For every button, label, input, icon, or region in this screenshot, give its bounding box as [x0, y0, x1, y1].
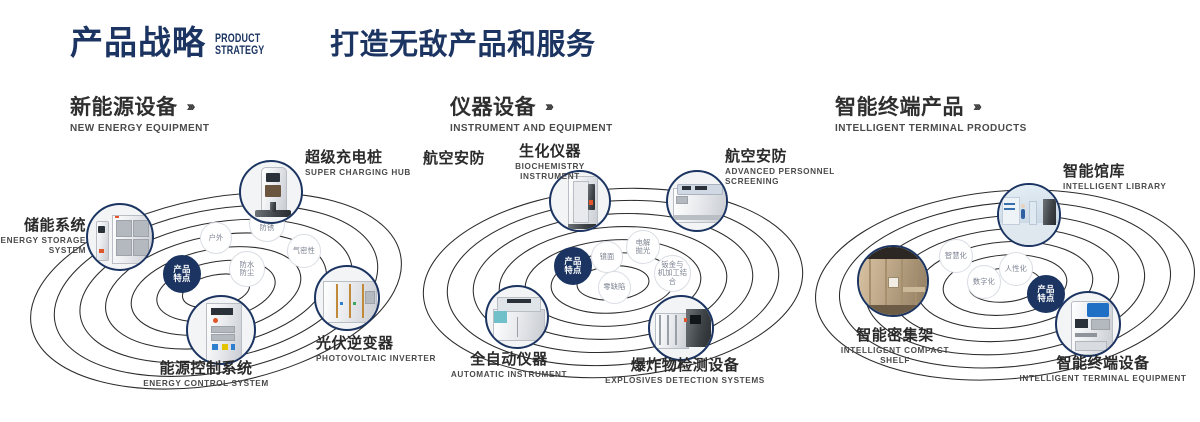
photovoltaic-inverter-photo	[316, 267, 378, 329]
caption-en-intelligent-terminal: INTELLIGENT TERMINAL EQUIPMENT	[1003, 374, 1200, 383]
caption-explosives-detection: 爆炸物检测设备 EXPLOSIVES DETECTION SYSTEMS	[590, 357, 780, 386]
feature-bubble-intelligence: 智慧化	[939, 239, 973, 273]
section-title-cn-instrument: 仪器设备 ›››	[450, 96, 613, 119]
caption-cn-explosives-detection: 爆炸物检测设备	[590, 357, 780, 374]
caption-en-super-charging-hub: SUPER CHARGING HUB	[305, 168, 425, 177]
feature-bubble-zero-defect: 零缺陷	[598, 271, 631, 304]
feature-bubble-sheetmetal-machining: 钣金与 机加工结合	[654, 255, 691, 292]
product-node-energy-control-system[interactable]	[186, 295, 256, 365]
caption-cn-intelligent-compact-shelf: 智能密集架	[795, 327, 995, 344]
poster-title-en: PRODUCT STRATEGY	[215, 34, 264, 57]
caption-aviation-security-left: 航空安防	[375, 150, 485, 167]
cluster-instrument: 产品 特点 镜面 电解 抛光 钣金与 机加工结合 零缺陷 生化仪器 BIOCHE…	[415, 155, 815, 417]
product-node-super-charging-hub[interactable]	[239, 160, 303, 224]
feature-bubble-outdoor: 户外	[200, 222, 232, 254]
core-bubble-new-energy: 产品 特点	[163, 255, 201, 293]
energy-storage-photo	[88, 205, 152, 269]
section-heading-intelligent: 智能终端产品 ››› INTELLIGENT TERMINAL PRODUCTS	[835, 96, 1027, 134]
cluster-new-energy: 产品 特点 户外 防腐 防锈 防水 防尘 气密性 储能系统 ENERGY STO…	[20, 155, 420, 417]
cluster-intelligent: 智慧化 数字化 人性化 产品 特点 智能馆库 INTELLIGENT LIBRA…	[805, 155, 1200, 417]
advanced-personnel-screening-photo	[668, 172, 726, 230]
poster-canvas: 产品战略 PRODUCT STRATEGY 打造无敌产品和服务 新能源设备 ››…	[0, 0, 1200, 422]
product-node-advanced-personnel-screening[interactable]	[666, 170, 728, 232]
caption-en-energy-control-system: ENERGY CONTROL SYSTEM	[86, 379, 326, 388]
energy-control-system-photo	[188, 297, 254, 363]
section-title-en-new-energy: NEW ENERGY EQUIPMENT	[70, 123, 209, 134]
super-charging-hub-photo	[241, 162, 301, 222]
caption-intelligent-compact-shelf: 智能密集架 INTELLIGENT COMPACT SHELF	[795, 327, 995, 365]
caption-en-biochemistry-instrument: BIOCHEMISTRY INSTRUMENT	[470, 162, 630, 181]
product-node-intelligent-terminal[interactable]	[1055, 291, 1121, 357]
product-node-explosives-detection[interactable]	[648, 295, 714, 361]
section-heading-new-energy: 新能源设备 ››› NEW ENERGY EQUIPMENT	[70, 96, 209, 134]
intelligent-compact-shelf-photo	[859, 247, 927, 315]
section-title-text-new-energy: 新能源设备	[70, 96, 178, 119]
core-bubble-instrument: 产品 特点	[554, 247, 592, 285]
section-title-en-instrument: INSTRUMENT AND EQUIPMENT	[450, 123, 613, 134]
product-node-photovoltaic-inverter[interactable]	[314, 265, 380, 331]
feature-bubble-airtight: 气密性	[287, 234, 321, 268]
intelligent-terminal-photo	[1057, 293, 1119, 355]
caption-cn-energy-control-system: 能源控制系统	[86, 360, 326, 377]
automatic-instrument-photo	[487, 287, 547, 347]
caption-intelligent-terminal: 智能终端设备 INTELLIGENT TERMINAL EQUIPMENT	[1003, 355, 1200, 384]
feature-bubble-waterproof: 防水 防尘	[229, 251, 265, 287]
poster-title-cn: 产品战略	[70, 26, 206, 59]
feature-bubble-electropolish: 电解 抛光	[626, 230, 660, 264]
product-node-intelligent-library[interactable]	[997, 183, 1061, 247]
section-heading-instrument: 仪器设备 ››› INSTRUMENT AND EQUIPMENT	[450, 96, 613, 134]
product-node-automatic-instrument[interactable]	[485, 285, 549, 349]
explosives-detection-photo	[650, 297, 712, 359]
poster-subtitle: 打造无敌产品和服务	[330, 30, 596, 62]
feature-bubble-humanization: 人性化	[999, 252, 1033, 286]
caption-en-energy-storage: ENERGY STORAGE SYSTEM	[0, 236, 86, 255]
caption-cn-intelligent-terminal: 智能终端设备	[1003, 355, 1200, 372]
caption-cn-aviation-security-left: 航空安防	[375, 150, 485, 167]
chevron-right-icon: ›››	[545, 99, 551, 116]
caption-en-explosives-detection: EXPLOSIVES DETECTION SYSTEMS	[590, 376, 780, 385]
feature-bubble-mirror: 镜面	[591, 241, 623, 273]
intelligent-library-photo	[999, 185, 1059, 245]
caption-cn-intelligent-library: 智能馆库	[1063, 163, 1193, 180]
caption-energy-control-system: 能源控制系统 ENERGY CONTROL SYSTEM	[86, 360, 326, 389]
chevron-right-icon: ›››	[187, 99, 193, 116]
caption-en-intelligent-compact-shelf: INTELLIGENT COMPACT SHELF	[795, 346, 995, 365]
product-node-intelligent-compact-shelf[interactable]	[857, 245, 929, 317]
section-title-cn-new-energy: 新能源设备 ›››	[70, 96, 209, 119]
section-title-cn-intelligent: 智能终端产品 ›››	[835, 96, 1027, 119]
caption-cn-energy-storage: 储能系统	[0, 217, 86, 234]
section-title-en-intelligent: INTELLIGENT TERMINAL PRODUCTS	[835, 123, 1027, 134]
caption-en-automatic-instrument: AUTOMATIC INSTRUMENT	[409, 370, 609, 379]
caption-cn-biochemistry-instrument: 生化仪器	[470, 143, 630, 160]
poster-header: 产品战略 PRODUCT STRATEGY	[70, 26, 278, 59]
product-node-energy-storage[interactable]	[86, 203, 154, 271]
feature-bubble-digitalization: 数字化	[967, 265, 1001, 299]
caption-intelligent-library: 智能馆库 INTELLIGENT LIBRARY	[1063, 163, 1193, 192]
caption-en-intelligent-library: INTELLIGENT LIBRARY	[1063, 182, 1193, 191]
caption-automatic-instrument: 全自动仪器 AUTOMATIC INSTRUMENT	[409, 351, 609, 380]
section-title-text-intelligent: 智能终端产品	[835, 96, 964, 119]
caption-cn-automatic-instrument: 全自动仪器	[409, 351, 609, 368]
caption-biochemistry-instrument: 生化仪器 BIOCHEMISTRY INSTRUMENT	[470, 143, 630, 181]
section-title-text-instrument: 仪器设备	[450, 96, 536, 119]
chevron-right-icon: ›››	[973, 99, 979, 116]
caption-energy-storage: 储能系统 ENERGY STORAGE SYSTEM	[0, 217, 86, 255]
